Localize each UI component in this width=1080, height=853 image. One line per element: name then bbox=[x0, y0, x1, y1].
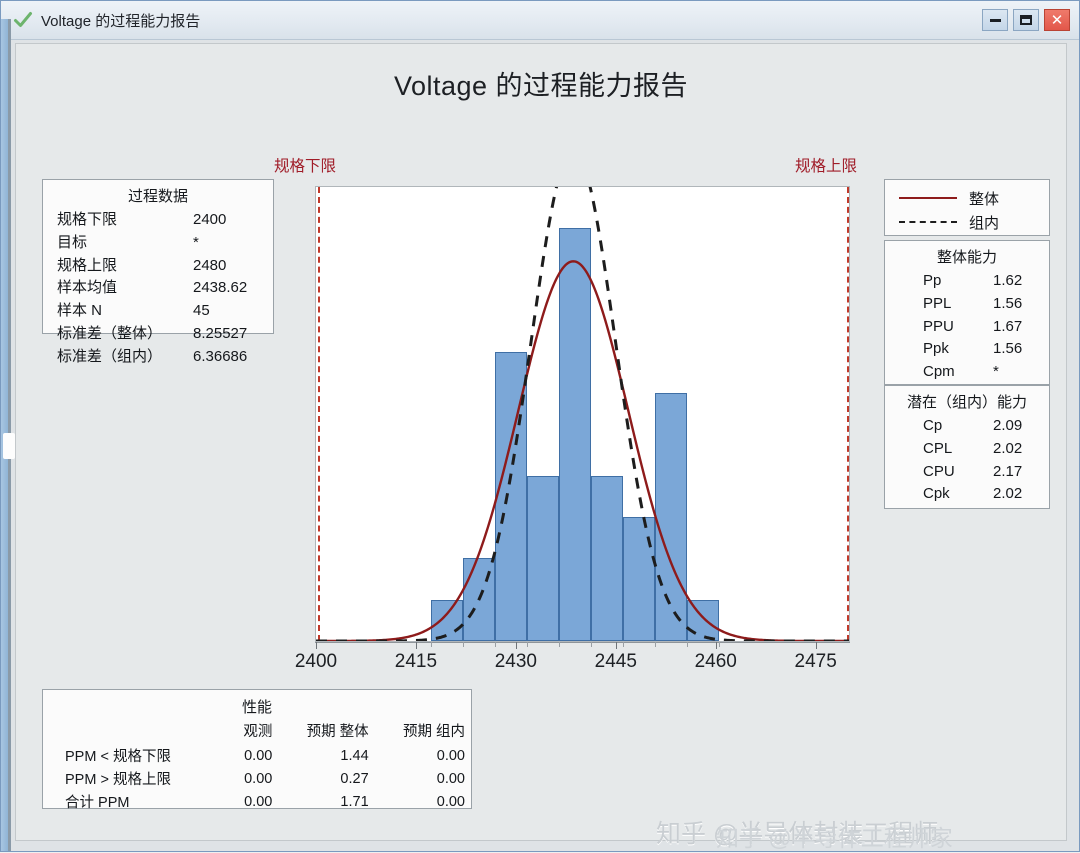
performance-box: 性能 观测预期 整体预期 组内 PPM < 规格下限0.001.440.00PP… bbox=[42, 689, 472, 809]
performance-row: 合计 PPM0.001.710.00 bbox=[43, 790, 471, 813]
overall-line-swatch bbox=[899, 197, 957, 199]
x-axis-label: 2475 bbox=[795, 651, 837, 673]
process-data-row: 标准差（整体）8.25527 bbox=[43, 323, 273, 346]
process-data-value: 6.36686 bbox=[193, 346, 247, 369]
process-data-box: 过程数据 规格下限2400目标*规格上限2480样本均值2438.62样本 N4… bbox=[42, 179, 274, 334]
within-capability-value: 2.02 bbox=[993, 438, 1022, 461]
process-data-row: 规格上限2480 bbox=[43, 255, 273, 278]
overall-capability-label: Ppk bbox=[885, 340, 949, 357]
process-data-row: 目标* bbox=[43, 232, 273, 255]
legend-label-within: 组内 bbox=[969, 212, 999, 233]
process-data-value: 8.25527 bbox=[193, 323, 247, 346]
page-title: Voltage 的过程能力报告 bbox=[16, 64, 1066, 103]
within-capability-box: 潜在（组内）能力 Cp2.09CPL2.02CPU2.17Cpk2.02 bbox=[884, 385, 1050, 509]
performance-cell: 0.00 bbox=[225, 744, 278, 767]
overall-capability-value: 1.56 bbox=[993, 293, 1022, 316]
x-axis-tick bbox=[416, 642, 417, 649]
x-axis-line bbox=[315, 642, 850, 643]
process-data-label: 标准差（整体） bbox=[43, 323, 162, 346]
legend-label-overall: 整体 bbox=[969, 188, 999, 209]
performance-cell: 1.71 bbox=[278, 790, 374, 813]
process-data-label: 样本均值 bbox=[43, 277, 117, 300]
x-axis-minor-tick bbox=[559, 642, 560, 647]
usl-label: 规格上限 bbox=[795, 154, 857, 176]
performance-cell: 0.00 bbox=[375, 790, 471, 813]
process-data-value: 2480 bbox=[193, 255, 226, 278]
within-line-swatch bbox=[899, 221, 957, 223]
overall-capability-value: 1.62 bbox=[993, 270, 1022, 293]
x-axis-tick bbox=[616, 642, 617, 649]
overall-capability-label: PPL bbox=[885, 295, 951, 312]
app-window: Voltage 的过程能力报告 ✕ Voltage 的过程能力报告 规格下限 规… bbox=[0, 0, 1080, 852]
process-data-row: 样本 N45 bbox=[43, 300, 273, 323]
overall-capability-value: 1.67 bbox=[993, 316, 1022, 339]
process-data-value: 2400 bbox=[193, 209, 226, 232]
performance-cell: 0.27 bbox=[278, 767, 374, 790]
overall-capability-row: Pp1.62 bbox=[885, 270, 1049, 293]
performance-cell: 0.00 bbox=[225, 767, 278, 790]
performance-row-label: PPM > 规格上限 bbox=[43, 767, 225, 790]
overall-capability-value: 1.56 bbox=[993, 338, 1022, 361]
process-data-value: 2438.62 bbox=[193, 277, 247, 300]
minimize-icon bbox=[990, 19, 1001, 22]
maximize-button[interactable] bbox=[1013, 9, 1039, 31]
overall-capability-row: PPU1.67 bbox=[885, 316, 1049, 339]
curve-overall bbox=[316, 261, 849, 641]
performance-column-header bbox=[43, 719, 225, 744]
within-capability-row: CPL2.02 bbox=[885, 438, 1049, 461]
performance-cell: 1.44 bbox=[278, 744, 374, 767]
process-data-label: 标准差（组内） bbox=[43, 346, 162, 369]
performance-column-header: 预期 整体 bbox=[278, 719, 374, 744]
overall-capability-row: Ppk1.56 bbox=[885, 338, 1049, 361]
distribution-curves bbox=[316, 187, 849, 641]
report-canvas: Voltage 的过程能力报告 规格下限 规格上限 过程数据 规格下限2400目… bbox=[15, 43, 1067, 841]
x-axis-label: 2430 bbox=[495, 651, 537, 673]
x-axis-tick bbox=[816, 642, 817, 649]
x-axis-minor-tick bbox=[655, 642, 656, 647]
plot-inner bbox=[316, 187, 849, 641]
watermark-secondary: 知乎 @半导体工程师家 bbox=[716, 819, 953, 853]
within-capability-label: Cp bbox=[885, 417, 942, 434]
within-capability-label: CPU bbox=[885, 463, 955, 480]
overall-capability-label: Cpm bbox=[885, 363, 955, 380]
x-axis-label: 2460 bbox=[695, 651, 737, 673]
performance-row-label: 合计 PPM bbox=[43, 790, 225, 813]
process-data-row: 规格下限2400 bbox=[43, 209, 273, 232]
check-icon bbox=[13, 10, 33, 30]
x-axis-label: 2400 bbox=[295, 651, 337, 673]
within-capability-value: 2.02 bbox=[993, 483, 1022, 506]
x-axis-minor-tick bbox=[495, 642, 496, 647]
title-bar-left: Voltage 的过程能力报告 bbox=[1, 10, 982, 31]
within-capability-label: Cpk bbox=[885, 485, 950, 502]
overall-capability-label: PPU bbox=[885, 318, 954, 335]
close-button[interactable]: ✕ bbox=[1044, 9, 1070, 31]
process-data-value: * bbox=[193, 232, 199, 255]
x-axis-tick bbox=[316, 642, 317, 649]
x-axis-label: 2445 bbox=[595, 651, 637, 673]
curve-within bbox=[316, 187, 849, 641]
performance-column-header: 观测 bbox=[225, 719, 278, 744]
performance-row: PPM < 规格下限0.001.440.00 bbox=[43, 744, 471, 767]
overall-capability-row: Cpm* bbox=[885, 361, 1049, 384]
legend-item-within: 组内 bbox=[885, 210, 1049, 234]
performance-cell: 0.00 bbox=[375, 767, 471, 790]
within-capability-row: CPU2.17 bbox=[885, 461, 1049, 484]
process-data-row: 标准差（组内）6.36686 bbox=[43, 346, 273, 369]
x-axis-minor-tick bbox=[463, 642, 464, 647]
histogram-plot bbox=[315, 186, 850, 642]
performance-body: PPM < 规格下限0.001.440.00PPM > 规格上限0.000.27… bbox=[43, 744, 471, 813]
x-axis-tick bbox=[716, 642, 717, 649]
within-capability-value: 2.17 bbox=[993, 461, 1022, 484]
within-capability-value: 2.09 bbox=[993, 415, 1022, 438]
performance-cell: 0.00 bbox=[375, 744, 471, 767]
window-controls: ✕ bbox=[982, 9, 1079, 31]
x-axis-minor-tick bbox=[527, 642, 528, 647]
lsl-label: 规格下限 bbox=[274, 154, 336, 176]
minimize-button[interactable] bbox=[982, 9, 1008, 31]
resize-handle-left[interactable] bbox=[3, 433, 15, 459]
legend-item-overall: 整体 bbox=[885, 186, 1049, 210]
x-axis-minor-tick bbox=[431, 642, 432, 647]
process-data-label: 规格上限 bbox=[43, 255, 117, 278]
title-bar: Voltage 的过程能力报告 ✕ bbox=[1, 1, 1079, 40]
process-data-row: 样本均值2438.62 bbox=[43, 277, 273, 300]
chart-legend: 整体 组内 bbox=[884, 179, 1050, 236]
x-axis-minor-tick bbox=[623, 642, 624, 647]
process-data-title: 过程数据 bbox=[43, 180, 273, 209]
performance-table: 观测预期 整体预期 组内 PPM < 规格下限0.001.440.00PPM >… bbox=[43, 719, 471, 813]
overall-capability-value: * bbox=[993, 361, 999, 384]
x-axis-minor-tick bbox=[719, 642, 720, 647]
overall-capability-rows: Pp1.62PPL1.56PPU1.67Ppk1.56Cpm* bbox=[885, 270, 1049, 384]
overall-capability-box: 整体能力 Pp1.62PPL1.56PPU1.67Ppk1.56Cpm* bbox=[884, 240, 1050, 385]
overall-capability-label: Pp bbox=[885, 272, 941, 289]
overall-capability-title: 整体能力 bbox=[885, 241, 1049, 270]
maximize-icon bbox=[1020, 15, 1032, 25]
performance-row: PPM > 规格上限0.000.270.00 bbox=[43, 767, 471, 790]
process-data-rows: 规格下限2400目标*规格上限2480样本均值2438.62样本 N45标准差（… bbox=[43, 209, 273, 373]
performance-title: 性能 bbox=[43, 690, 471, 719]
window-title: Voltage 的过程能力报告 bbox=[41, 10, 200, 31]
process-data-value: 45 bbox=[193, 300, 210, 323]
process-data-label: 目标 bbox=[43, 232, 87, 255]
overall-capability-row: PPL1.56 bbox=[885, 293, 1049, 316]
x-axis: 240024152430244524602475 bbox=[315, 642, 850, 688]
within-capability-row: Cpk2.02 bbox=[885, 483, 1049, 506]
within-capability-rows: Cp2.09CPL2.02CPU2.17Cpk2.02 bbox=[885, 415, 1049, 506]
process-data-label: 样本 N bbox=[43, 300, 102, 323]
x-axis-tick bbox=[516, 642, 517, 649]
x-axis-label: 2415 bbox=[395, 651, 437, 673]
process-data-label: 规格下限 bbox=[43, 209, 117, 232]
within-capability-row: Cp2.09 bbox=[885, 415, 1049, 438]
performance-row-label: PPM < 规格下限 bbox=[43, 744, 225, 767]
x-axis-minor-tick bbox=[591, 642, 592, 647]
performance-column-header: 预期 组内 bbox=[375, 719, 471, 744]
performance-header-row: 观测预期 整体预期 组内 bbox=[43, 719, 471, 744]
close-icon: ✕ bbox=[1051, 13, 1064, 28]
within-capability-label: CPL bbox=[885, 440, 952, 457]
performance-cell: 0.00 bbox=[225, 790, 278, 813]
x-axis-minor-tick bbox=[687, 642, 688, 647]
within-capability-title: 潜在（组内）能力 bbox=[885, 386, 1049, 415]
